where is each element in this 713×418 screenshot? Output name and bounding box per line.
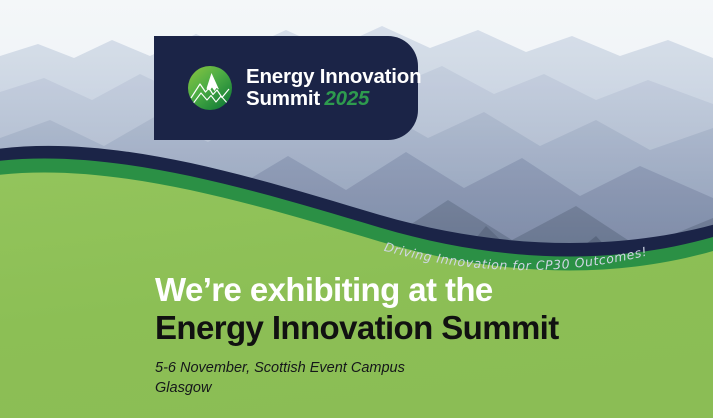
headline-line-2: Energy Innovation Summit [155,309,695,347]
logo-line-2: Summit [246,87,320,110]
logo-year: 2025 [324,87,369,110]
headline-line-1: We’re exhibiting at the [155,271,695,309]
promo-copy-block: We’re exhibiting at the Energy Innovatio… [155,271,695,398]
logo-line-1: Energy Innovation [246,65,421,88]
logo-wordmark: Energy Innovation Summit 2025 [246,66,421,110]
event-logo-lockup: Energy Innovation Summit 2025 [154,36,418,140]
event-city: Glasgow [155,378,695,398]
exhibition-promo-banner: Energy Innovation Summit 2025 Driving In… [0,0,713,418]
mountain-circle-logo-icon [186,64,234,112]
event-details: 5-6 November, Scottish Event Campus Glas… [155,358,695,398]
event-dates-venue: 5-6 November, Scottish Event Campus [155,358,695,378]
